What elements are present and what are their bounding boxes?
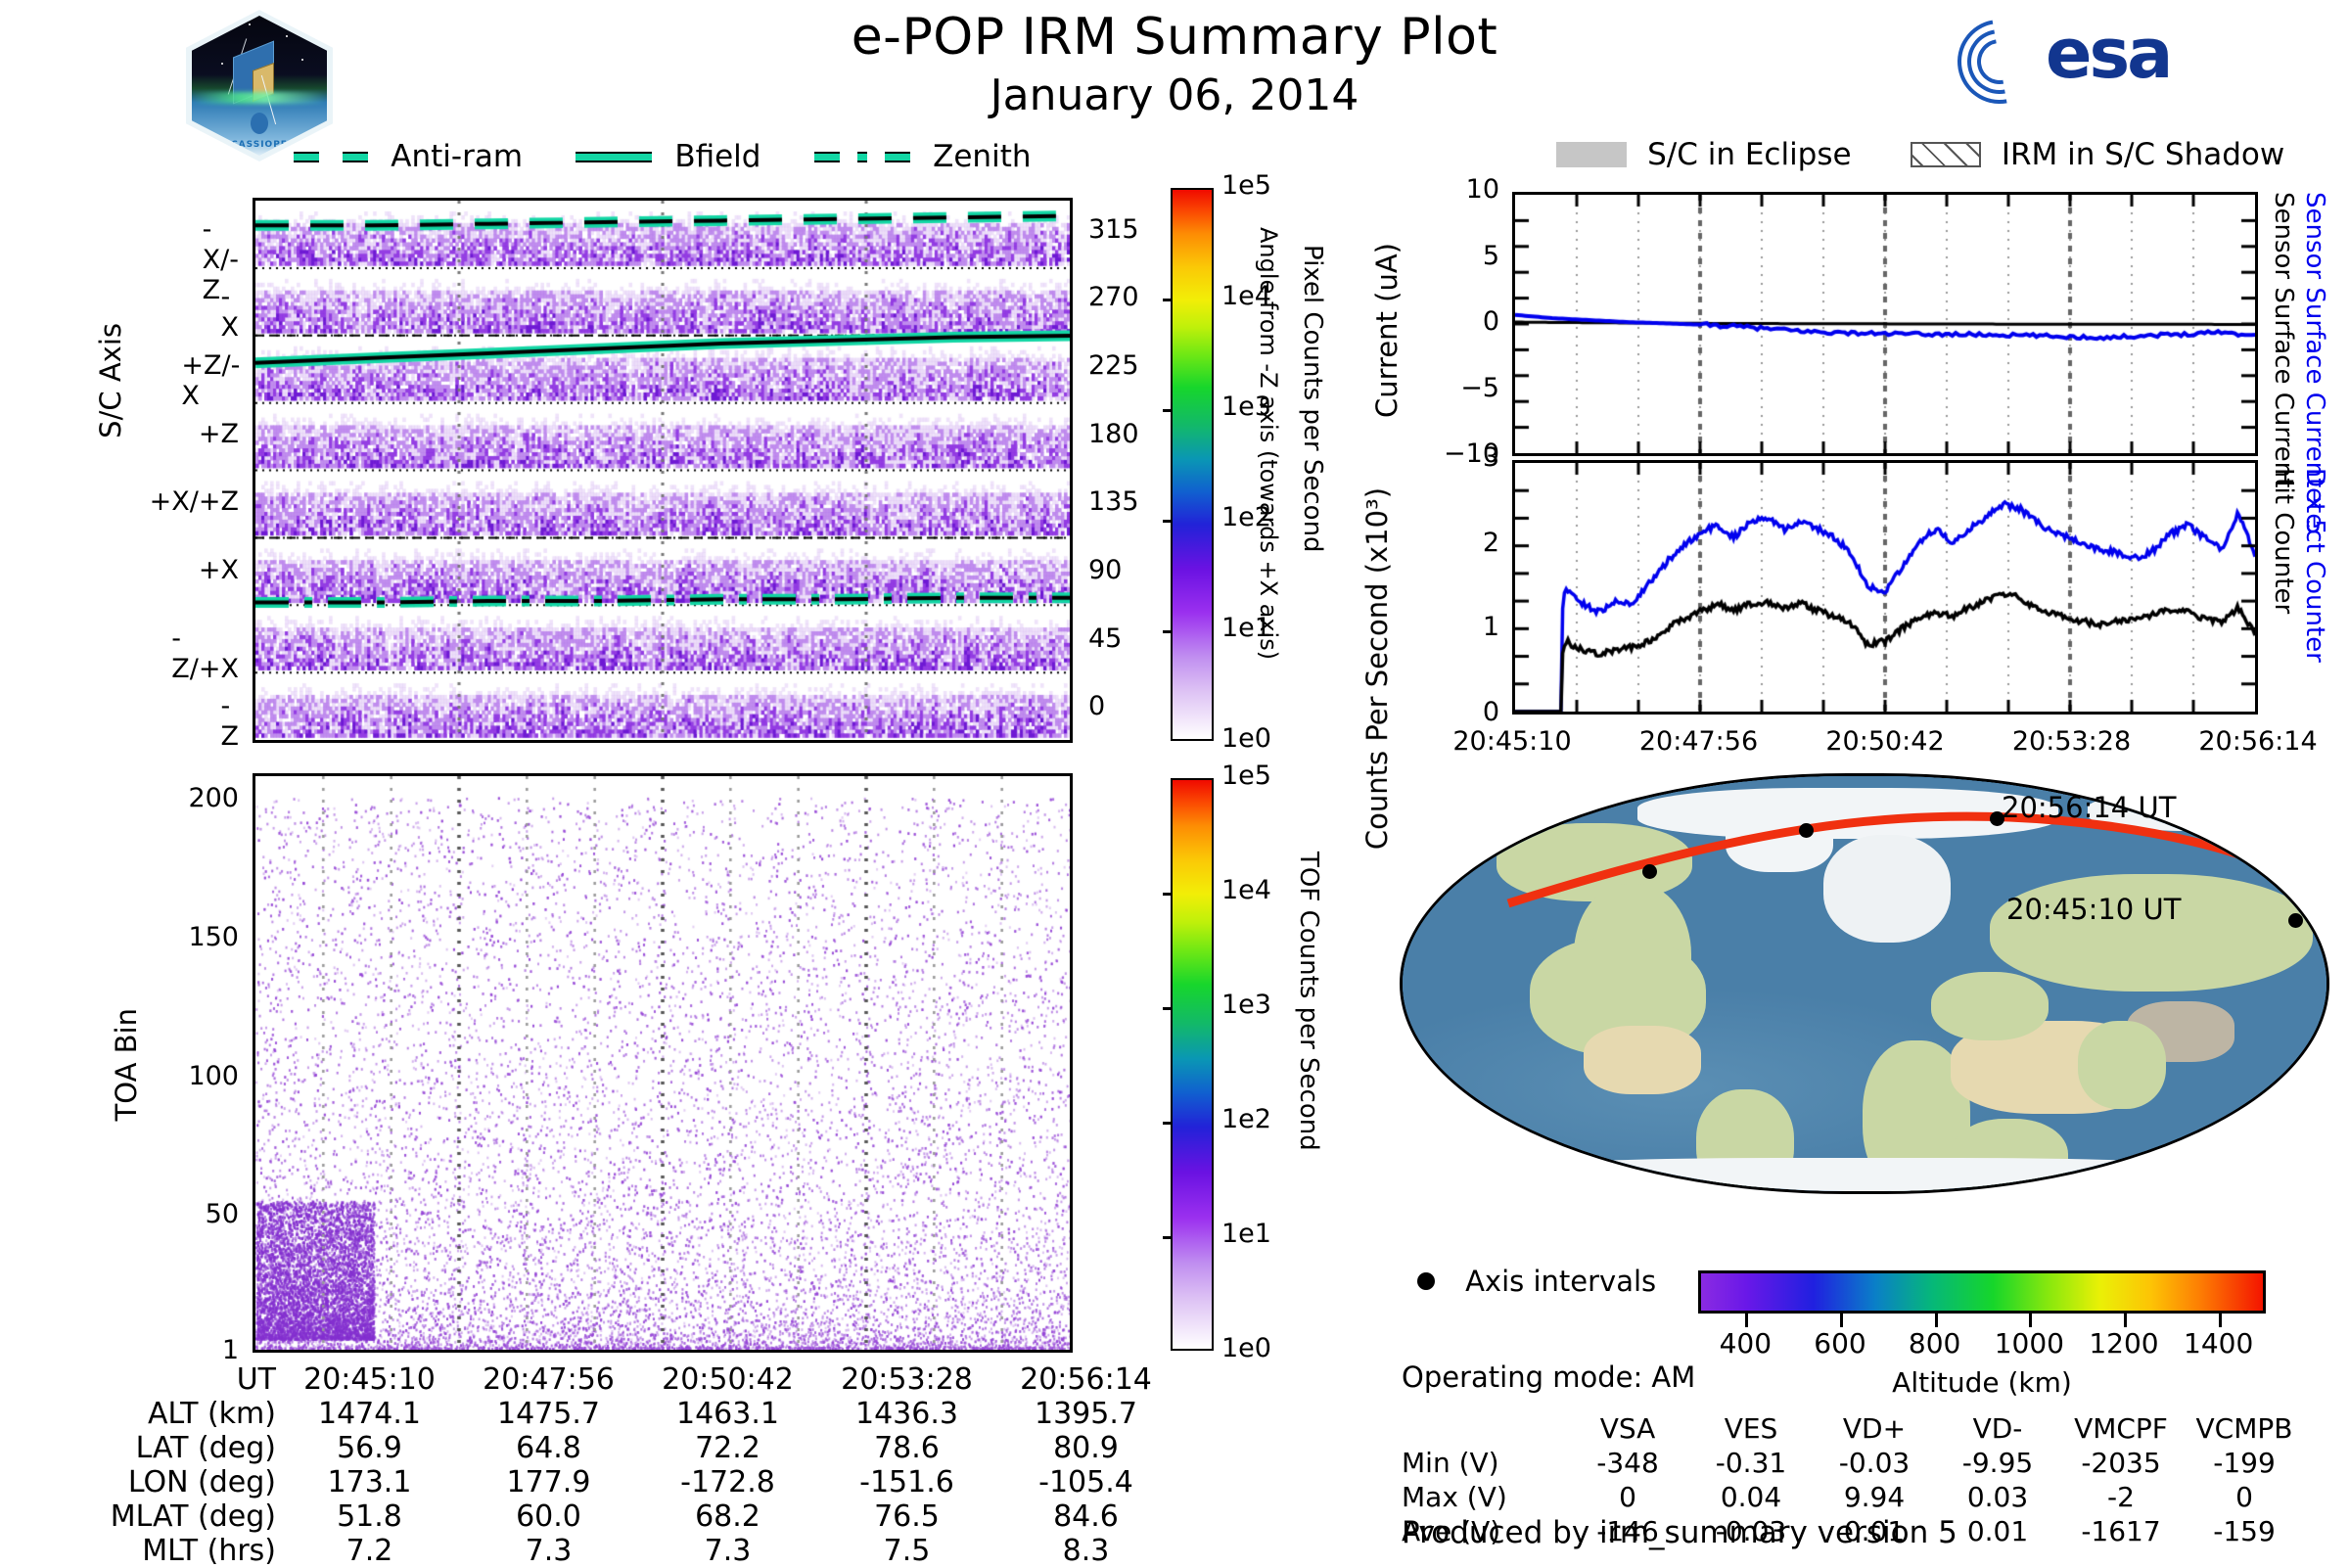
row-label: LON (deg) bbox=[106, 1465, 280, 1499]
world-map bbox=[1400, 773, 2329, 1194]
table-cell: -199 bbox=[2183, 1446, 2306, 1480]
table-cell: 0.04 bbox=[1689, 1480, 1813, 1514]
table-cell: 1463.1 bbox=[638, 1397, 817, 1431]
table-cell: -151.6 bbox=[817, 1465, 996, 1499]
table-cell: 1436.3 bbox=[817, 1397, 996, 1431]
table-cell: 84.6 bbox=[996, 1499, 1175, 1534]
track-start-time-label: 20:45:10 UT bbox=[2006, 893, 2181, 926]
column-header: VMCPF bbox=[2059, 1411, 2183, 1446]
column-header: VD- bbox=[1936, 1411, 2059, 1446]
axis-intervals-legend: Axis intervals bbox=[1417, 1265, 1656, 1298]
track-point-start bbox=[2283, 872, 2298, 887]
tof-counts-colorbar-label: TOF Counts per Second bbox=[1294, 852, 1323, 1151]
column-header: VSA bbox=[1566, 1411, 1689, 1446]
pixel-counts-colorbar bbox=[1171, 188, 1214, 741]
table-cell: 51.8 bbox=[280, 1499, 459, 1534]
tick-label: 10 bbox=[1466, 174, 1499, 205]
toa-bin-spectrogram-plot[interactable] bbox=[253, 773, 1073, 1353]
ephemeris-table: UT20:45:1020:47:5620:50:4220:53:2820:56:… bbox=[106, 1362, 1175, 1568]
tick-label: 1 bbox=[1483, 612, 1499, 642]
table-row: MLT (hrs)7.27.37.37.58.3 bbox=[106, 1534, 1175, 1568]
altitude-colorbar-ticks: 400600800100012001400 bbox=[1698, 1270, 2266, 1368]
tick-label: +X/+Z bbox=[150, 486, 239, 517]
blank-header bbox=[1402, 1411, 1566, 1446]
altitude-tick bbox=[1935, 1314, 1938, 1327]
anti-ram-dash-swatch-2 bbox=[343, 152, 368, 162]
table-cell: 78.6 bbox=[817, 1431, 996, 1465]
table-cell: 173.1 bbox=[280, 1465, 459, 1499]
legend-item-bfield: Bfield bbox=[576, 147, 765, 165]
altitude-tick bbox=[1745, 1314, 1748, 1327]
table-cell: 7.2 bbox=[280, 1534, 459, 1568]
sc-in-eclipse-swatch bbox=[1556, 142, 1627, 167]
table-cell: 56.9 bbox=[280, 1431, 459, 1465]
altitude-tick-label: 600 bbox=[1814, 1327, 1865, 1360]
table-cell: 20:47:56 bbox=[459, 1362, 638, 1397]
tof-counts-colorbar bbox=[1171, 778, 1214, 1351]
tick-label: 1e3 bbox=[1221, 990, 1271, 1020]
table-cell: -0.31 bbox=[1689, 1446, 1813, 1480]
table-row: LAT (deg)56.964.872.278.680.9 bbox=[106, 1431, 1175, 1465]
legend-label-irm-in-sc-shadow: IRM in S/C Shadow bbox=[2002, 137, 2284, 172]
altitude-tick-label: 1000 bbox=[1995, 1327, 2064, 1360]
table-row: Min (V)-348-0.31-0.03-9.95-2035-199 bbox=[1402, 1446, 2306, 1480]
table-row: MLAT (deg)51.860.068.276.584.6 bbox=[106, 1499, 1175, 1534]
table-cell: 20:45:10 bbox=[280, 1362, 459, 1397]
row-label: UT bbox=[106, 1362, 280, 1397]
table-cell: 76.5 bbox=[817, 1499, 996, 1534]
tick-label: 1e2 bbox=[1221, 502, 1271, 532]
current-panel-right-label-black: Sensor Surface Current bbox=[2269, 192, 2298, 487]
tick-label: 1e1 bbox=[1221, 613, 1271, 643]
counts-panel-right-label-black: Hit Counter bbox=[2269, 468, 2298, 614]
column-header: VD+ bbox=[1813, 1411, 1936, 1446]
tick-label: 90 bbox=[1088, 555, 1122, 585]
column-header: VES bbox=[1689, 1411, 1813, 1446]
tick-label: 315 bbox=[1088, 214, 1139, 245]
altitude-tick bbox=[2029, 1314, 2032, 1327]
table-header-row: VSAVESVD+VD-VMCPFVCMPB bbox=[1402, 1411, 2306, 1446]
counts-panel-ylabel: Counts Per Second (x10³) bbox=[1362, 487, 1392, 850]
legend-item-anti-ram: Anti-ram bbox=[294, 147, 528, 165]
eclipse-legend: S/C in Eclipse IRM in S/C Shadow bbox=[1556, 137, 2284, 172]
table-cell: -159 bbox=[2183, 1514, 2306, 1548]
table-cell: 7.3 bbox=[638, 1534, 817, 1568]
row-label: Min (V) bbox=[1402, 1446, 1566, 1480]
altitude-tick bbox=[2219, 1314, 2222, 1327]
tick-label: 1 bbox=[222, 1335, 239, 1365]
altitude-colorbar-label: Altitude (km) bbox=[1698, 1366, 2266, 1399]
sc-axis-ylabel: S/C Axis bbox=[94, 323, 127, 438]
esa-logo: esa bbox=[1957, 16, 2241, 104]
axis-interval-dot-icon bbox=[1417, 1272, 1435, 1290]
tick-label: 50 bbox=[206, 1199, 239, 1229]
zenith-dash-swatch-2 bbox=[885, 152, 910, 162]
tick-label: 0 bbox=[1088, 691, 1105, 721]
table-cell: -2 bbox=[2059, 1480, 2183, 1514]
table-cell: 1475.7 bbox=[459, 1397, 638, 1431]
track-point-mid-1 bbox=[1799, 823, 1814, 838]
zenith-dash-swatch bbox=[814, 152, 840, 162]
orbit-ground-track-map[interactable]: 20:56:14 UT 20:45:10 UT bbox=[1400, 773, 2329, 1194]
orbit-track-line bbox=[1403, 776, 2329, 1194]
tick-label: +Z bbox=[199, 419, 239, 449]
row-label: MLAT (deg) bbox=[106, 1499, 280, 1534]
tick-label: 100 bbox=[188, 1061, 239, 1091]
track-end-time-label: 20:56:14 UT bbox=[2002, 791, 2176, 824]
altitude-tick bbox=[1840, 1314, 1843, 1327]
table-cell: 1395.7 bbox=[996, 1397, 1175, 1431]
tick-label: 1e3 bbox=[1221, 392, 1271, 422]
legend-label-bfield: Bfield bbox=[674, 139, 760, 174]
tick-label: 1e0 bbox=[1221, 723, 1271, 754]
tick-label: 0 bbox=[1483, 697, 1499, 727]
tick-label: 20:56:14 bbox=[2198, 726, 2317, 757]
table-cell: 20:50:42 bbox=[638, 1362, 817, 1397]
bfield-line-swatch bbox=[576, 152, 652, 162]
tick-label: +Z/-X bbox=[181, 350, 239, 411]
tick-label: 1e5 bbox=[1221, 170, 1271, 201]
current-panel-ylabel: Current (uA) bbox=[1370, 243, 1404, 418]
legend-label-zenith: Zenith bbox=[933, 139, 1031, 174]
tick-label: 20:47:56 bbox=[1639, 726, 1758, 757]
table-cell: 60.0 bbox=[459, 1499, 638, 1534]
table-cell: 0 bbox=[1566, 1480, 1689, 1514]
tick-label: 20:53:28 bbox=[2012, 726, 2131, 757]
pixel-counts-colorbar-label: Pixel Counts per Second bbox=[1298, 245, 1327, 553]
table-cell: 7.3 bbox=[459, 1534, 638, 1568]
table-cell: 20:53:28 bbox=[817, 1362, 996, 1397]
table-cell: 72.2 bbox=[638, 1431, 817, 1465]
table-cell: -2035 bbox=[2059, 1446, 2183, 1480]
counts-panel-plot[interactable] bbox=[1512, 460, 2258, 715]
table-row: Max (V)00.049.940.03-20 bbox=[1402, 1480, 2306, 1514]
altitude-tick-label: 1200 bbox=[2089, 1327, 2158, 1360]
tick-label: 150 bbox=[188, 922, 239, 952]
tick-label: -Z/+X bbox=[171, 623, 239, 684]
tick-label: 3 bbox=[1483, 442, 1499, 473]
legend-item-zenith: Zenith bbox=[814, 147, 1032, 165]
tick-label: 200 bbox=[188, 783, 239, 813]
table-row: UT20:45:1020:47:5620:50:4220:53:2820:56:… bbox=[106, 1362, 1175, 1397]
table-cell: 0.03 bbox=[1936, 1480, 2059, 1514]
tick-label: 135 bbox=[1088, 486, 1139, 517]
altitude-tick bbox=[2124, 1314, 2127, 1327]
table-cell: -1617 bbox=[2059, 1514, 2183, 1548]
table-cell: 68.2 bbox=[638, 1499, 817, 1534]
table-cell: 9.94 bbox=[1813, 1480, 1936, 1514]
row-label: MLT (hrs) bbox=[106, 1534, 280, 1568]
spectrogram-legend: Anti-ram Bfield Zenith bbox=[294, 139, 1032, 174]
tick-label: -Z bbox=[221, 691, 240, 752]
track-point-start-2 bbox=[2288, 913, 2303, 928]
counts-panel-right-label-blue: Detect Counter bbox=[2300, 468, 2329, 663]
operating-mode-text: Operating mode: AM bbox=[1402, 1360, 1695, 1394]
irm-in-sc-shadow-swatch bbox=[1911, 142, 1981, 167]
tick-label: 270 bbox=[1088, 282, 1139, 312]
anti-ram-dash-swatch bbox=[294, 152, 319, 162]
altitude-tick-label: 800 bbox=[1909, 1327, 1960, 1360]
tick-label: 1e1 bbox=[1221, 1219, 1271, 1249]
tick-label: 5 bbox=[1483, 241, 1499, 271]
tick-label: 1e5 bbox=[1221, 761, 1271, 791]
row-label: Max (V) bbox=[1402, 1480, 1566, 1514]
column-header: VCMPB bbox=[2183, 1411, 2306, 1446]
table-cell: -348 bbox=[1566, 1446, 1689, 1480]
tick-label: 1e4 bbox=[1221, 281, 1271, 311]
table-cell: -0.03 bbox=[1813, 1446, 1936, 1480]
esa-wordmark: esa bbox=[2046, 14, 2170, 94]
toa-bin-ylabel: TOA Bin bbox=[110, 1008, 143, 1121]
legend-label-anti-ram: Anti-ram bbox=[391, 139, 523, 174]
sc-axis-spectrogram-plot[interactable] bbox=[253, 198, 1073, 743]
altitude-tick-label: 400 bbox=[1720, 1327, 1772, 1360]
tick-label: 0 bbox=[1483, 306, 1499, 337]
table-cell: 8.3 bbox=[996, 1534, 1175, 1568]
table-cell: 177.9 bbox=[459, 1465, 638, 1499]
tick-label: 20:45:10 bbox=[1452, 726, 1571, 757]
table-cell: 20:56:14 bbox=[996, 1362, 1175, 1397]
axis-intervals-label: Axis intervals bbox=[1465, 1265, 1656, 1298]
table-row: ALT (km)1474.11475.71463.11436.31395.7 bbox=[106, 1397, 1175, 1431]
tick-label: −5 bbox=[1460, 373, 1499, 403]
tick-label: 1e0 bbox=[1221, 1333, 1271, 1363]
tick-label: 2 bbox=[1483, 528, 1499, 558]
zenith-dot-swatch bbox=[857, 152, 867, 162]
table-cell: 0 bbox=[2183, 1480, 2306, 1514]
tick-label: 45 bbox=[1088, 623, 1122, 654]
tick-label: 180 bbox=[1088, 419, 1139, 449]
row-label: ALT (km) bbox=[106, 1397, 280, 1431]
current-panel-plot[interactable] bbox=[1512, 192, 2258, 456]
tick-label: 20:50:42 bbox=[1825, 726, 1944, 757]
track-point-mid-2 bbox=[1642, 864, 1657, 879]
tick-label: -X bbox=[221, 282, 240, 343]
tick-label: 1e4 bbox=[1221, 875, 1271, 905]
table-cell: 80.9 bbox=[996, 1431, 1175, 1465]
table-cell: 7.5 bbox=[817, 1534, 996, 1568]
tick-label: 1e2 bbox=[1221, 1104, 1271, 1134]
altitude-tick-label: 1400 bbox=[2184, 1327, 2253, 1360]
tick-label: +X bbox=[199, 555, 239, 585]
legend-label-sc-in-eclipse: S/C in Eclipse bbox=[1647, 137, 1852, 172]
table-row: LON (deg)173.1177.9-172.8-151.6-105.4 bbox=[106, 1465, 1175, 1499]
produced-by-text: Produced by irm_summary version 5 bbox=[1402, 1515, 1957, 1550]
table-cell: -105.4 bbox=[996, 1465, 1175, 1499]
row-label: LAT (deg) bbox=[106, 1431, 280, 1465]
table-cell: -9.95 bbox=[1936, 1446, 2059, 1480]
table-cell: 64.8 bbox=[459, 1431, 638, 1465]
table-cell: 1474.1 bbox=[280, 1397, 459, 1431]
table-cell: -172.8 bbox=[638, 1465, 817, 1499]
tick-label: 225 bbox=[1088, 350, 1139, 381]
